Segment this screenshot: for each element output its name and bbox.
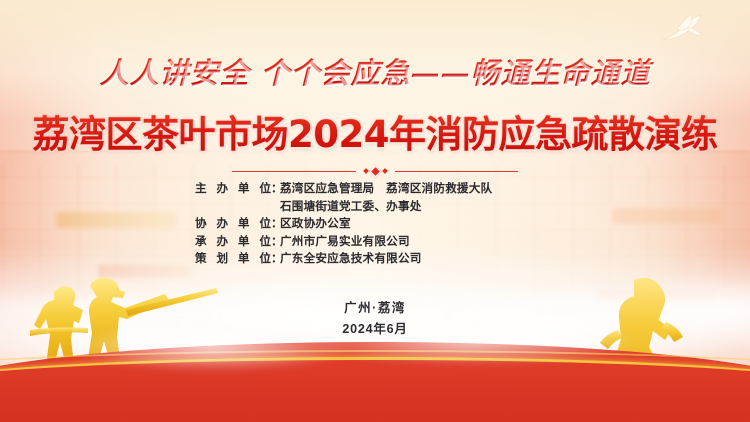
organizer-value: 荔湾区应急管理局 荔湾区消防救援大队: [280, 180, 555, 198]
organizer-colon: ：: [271, 215, 280, 233]
organizer-list: 主办单位 ： 荔湾区应急管理局 荔湾区消防救援大队 石围塘街道党工委、办事处 协…: [0, 180, 750, 268]
organizer-label: 承办单位: [195, 233, 271, 251]
organizer-label: 协办单位: [195, 215, 271, 233]
divider-line-right: [395, 171, 519, 172]
poster-slogan: 人人讲安全 个个会应急——畅通生命通道: [0, 50, 750, 92]
organizer-row: 主办单位 ： 荔湾区应急管理局 荔湾区消防救援大队: [195, 180, 555, 198]
organizer-label: 主办单位: [195, 180, 271, 198]
dove-icon: [655, 10, 711, 55]
divider-line-left: [232, 171, 356, 172]
footer-location: 广州·荔湾: [0, 298, 750, 319]
poster-footer: 广州·荔湾 2024年6月: [0, 298, 750, 340]
organizer-colon: ：: [271, 250, 280, 268]
organizer-label: 策划单位: [195, 250, 271, 268]
organizer-row: 协办单位 ： 区政协办公室: [195, 215, 555, 233]
organizer-value: 石围塘街道党工委、办事处: [280, 198, 555, 216]
organizer-value: 广东全安应急技术有限公司: [280, 250, 555, 268]
divider: [232, 164, 518, 178]
organizer-row: 策划单位 ： 广东全安应急技术有限公司: [195, 250, 555, 268]
footer-date: 2024年6月: [0, 319, 750, 340]
poster-canvas: 人人讲安全 个个会应急——畅通生命通道 荔湾区茶叶市场2024年消防应急疏散演练…: [0, 0, 750, 422]
organizer-row: 石围塘街道党工委、办事处: [195, 198, 555, 216]
poster-main-title: 荔湾区茶叶市场2024年消防应急疏散演练: [0, 104, 750, 158]
organizer-value: 广州市广易实业有限公司: [280, 233, 555, 251]
organizer-colon: ：: [271, 180, 280, 198]
organizer-row: 承办单位 ： 广州市广易实业有限公司: [195, 233, 555, 251]
organizer-colon: ：: [271, 233, 280, 251]
organizer-value: 区政协办公室: [280, 215, 555, 233]
diamond-ornament-icon: [364, 167, 387, 176]
